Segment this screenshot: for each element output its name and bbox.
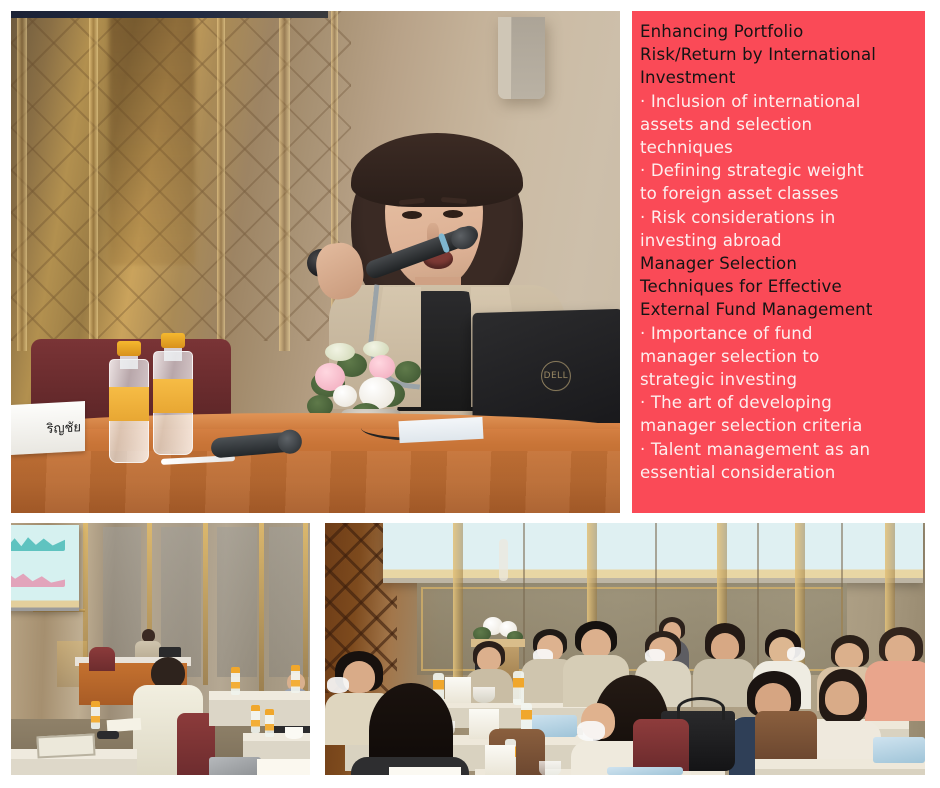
laptop-screen bbox=[873, 737, 925, 763]
dell-logo-icon: DELL bbox=[541, 361, 571, 391]
agenda-heading-line: Risk/Return by International bbox=[640, 43, 915, 66]
head-table-drape bbox=[11, 423, 620, 513]
water-bottle bbox=[513, 671, 524, 705]
agenda-heading-line: External Fund Management bbox=[640, 298, 915, 321]
water-bottle bbox=[265, 709, 274, 737]
projection-screen bbox=[11, 525, 79, 611]
water-bottle bbox=[109, 341, 149, 463]
table-side bbox=[755, 769, 925, 775]
name-plate: ริญชัย bbox=[11, 401, 85, 455]
gold-pillar bbox=[17, 11, 27, 351]
cup bbox=[285, 727, 303, 739]
eye bbox=[443, 210, 463, 218]
water-glass bbox=[539, 761, 561, 775]
gold-pillar bbox=[279, 11, 290, 351]
agenda-bullet-line: manager selection criteria bbox=[640, 414, 915, 437]
ceiling-shadow-band bbox=[11, 11, 328, 18]
gold-pillar bbox=[89, 11, 98, 351]
chart-line-pink bbox=[11, 569, 65, 587]
papers bbox=[398, 417, 483, 443]
water-bottle bbox=[153, 333, 193, 455]
papers bbox=[389, 767, 461, 775]
agenda-bullet-line: · Risk considerations in bbox=[640, 206, 915, 229]
room-wide-photo bbox=[11, 523, 310, 775]
wall-speaker-icon bbox=[498, 17, 545, 99]
agenda-bullet-line: · Inclusion of international bbox=[640, 90, 915, 113]
eye bbox=[402, 211, 422, 219]
gold-trim bbox=[259, 523, 264, 693]
wall-speaker-icon bbox=[499, 539, 508, 581]
agenda-bullet-line: manager selection to bbox=[640, 345, 915, 368]
fringe bbox=[351, 133, 523, 207]
dark-doorway bbox=[109, 15, 195, 265]
agenda-bullet-line: essential consideration bbox=[640, 461, 915, 484]
chart-line-teal bbox=[11, 535, 65, 551]
notepad bbox=[36, 733, 95, 758]
agenda-lines: Enhancing PortfolioRisk/Return by Intern… bbox=[640, 20, 915, 484]
chair bbox=[89, 647, 115, 671]
water-bottle bbox=[231, 667, 240, 695]
agenda-heading-line: Investment bbox=[640, 66, 915, 89]
agenda-bullet-line: · The art of developing bbox=[640, 391, 915, 414]
wall-panel bbox=[217, 527, 257, 677]
front-table-side bbox=[11, 759, 137, 775]
gold-pillar bbox=[217, 11, 225, 351]
agenda-bullet-line: assets and selection bbox=[640, 113, 915, 136]
agenda-heading-line: Manager Selection bbox=[640, 252, 915, 275]
agenda-heading-line: Enhancing Portfolio bbox=[640, 20, 915, 43]
agenda-text-panel: Enhancing PortfolioRisk/Return by Intern… bbox=[632, 11, 925, 513]
chair bbox=[633, 719, 689, 771]
agenda-heading-line: Techniques for Effective bbox=[640, 275, 915, 298]
photo-collage: DELL bbox=[0, 0, 940, 788]
water-bottle bbox=[291, 665, 300, 693]
audience-photo bbox=[325, 523, 925, 775]
attendee bbox=[351, 683, 469, 775]
laptop-small bbox=[209, 757, 261, 775]
agenda-bullet-line: to foreign asset classes bbox=[640, 182, 915, 205]
phone bbox=[97, 731, 119, 739]
gold-column bbox=[453, 523, 463, 693]
agenda-bullet-line: techniques bbox=[640, 136, 915, 159]
name-plate-text: ริญชัย bbox=[47, 416, 82, 439]
agenda-bullet-line: · Defining strategic weight bbox=[640, 159, 915, 182]
water-glass bbox=[473, 687, 495, 703]
water-bottle bbox=[251, 705, 260, 733]
agenda-bullet-line: · Talent management as an bbox=[640, 438, 915, 461]
papers bbox=[257, 759, 310, 775]
gold-trim bbox=[203, 523, 208, 685]
water-bottle bbox=[91, 701, 100, 729]
drape-folds bbox=[11, 451, 620, 513]
table-tent-card bbox=[485, 745, 515, 775]
agenda-bullet-line: strategic investing bbox=[640, 368, 915, 391]
agenda-bullet-line: investing abroad bbox=[640, 229, 915, 252]
main-photo-speaker: DELL bbox=[11, 11, 620, 513]
chair bbox=[755, 711, 817, 759]
laptop-screen bbox=[607, 767, 683, 775]
agenda-bullet-line: · Importance of fund bbox=[640, 322, 915, 345]
